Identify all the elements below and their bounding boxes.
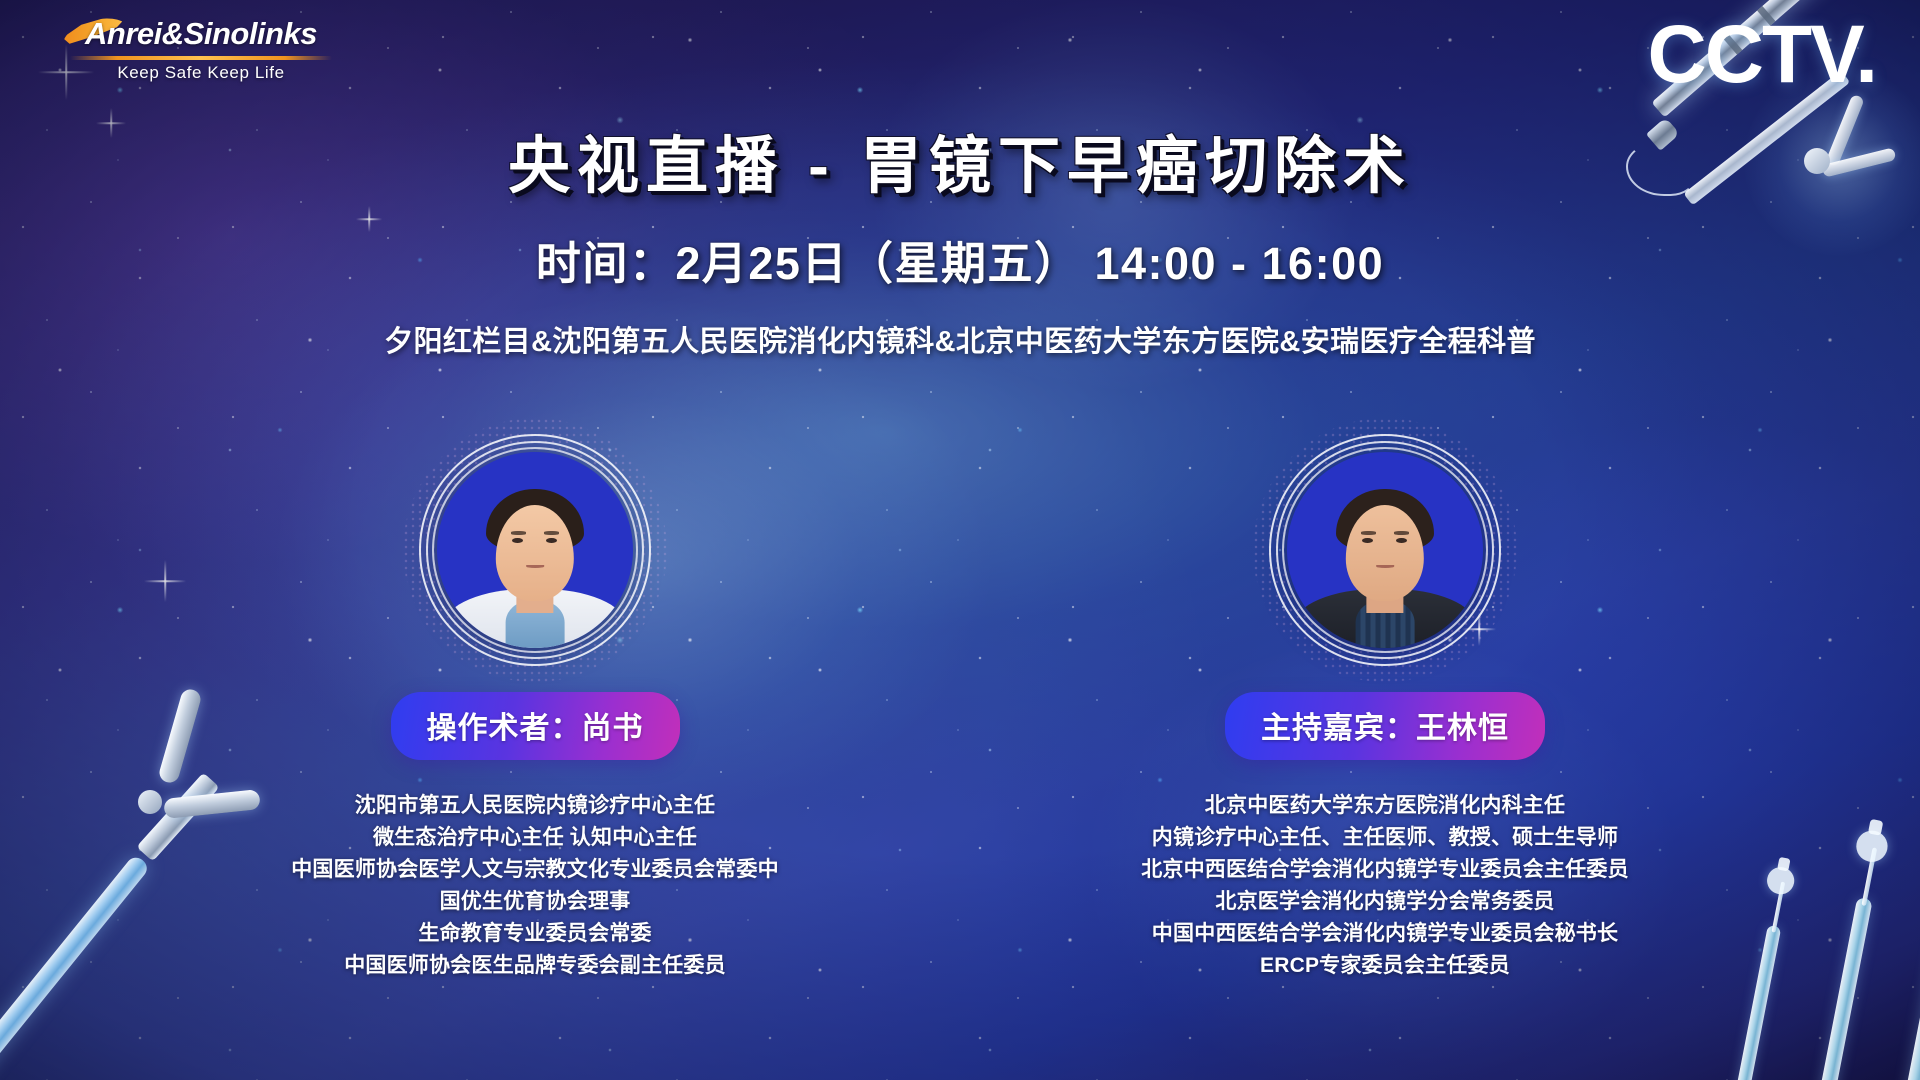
- credentials-list-operator: 沈阳市第五人民医院内镜诊疗中心主任 微生态治疗中心主任 认知中心主任 中国医师协…: [275, 790, 795, 981]
- speaker-card-host: 主持嘉宾：王林恒 北京中医药大学东方医院消化内科主任 内镜诊疗中心主任、主任医师…: [1125, 452, 1645, 981]
- list-item: 北京中医药大学东方医院消化内科主任: [1125, 790, 1645, 822]
- list-item: 沈阳市第五人民医院内镜诊疗中心主任: [275, 790, 795, 822]
- list-item: 中国医师协会医生品牌专委会副主任委员: [275, 950, 795, 982]
- avatar-ring-border: [419, 434, 651, 666]
- brand-divider: [70, 56, 332, 60]
- list-item: ERCP专家委员会主任委员: [1125, 950, 1645, 982]
- list-item: 内镜诊疗中心主任、主任医师、教授、硕士生导师: [1125, 822, 1645, 854]
- avatar-ring-border: [1269, 434, 1501, 666]
- event-time: 时间：2月25日（星期五） 14:00 - 16:00: [0, 227, 1920, 292]
- brand-tagline: Keep Safe Keep Life: [66, 63, 336, 83]
- event-organizers: 夕阳红栏目&沈阳第五人民医院消化内镜科&北京中医药大学东方医院&安瑞医疗全程科普: [0, 318, 1920, 360]
- speaker-card-operator: 操作术者：尚书 沈阳市第五人民医院内镜诊疗中心主任 微生态治疗中心主任 认知中心…: [275, 452, 795, 981]
- avatar-wrap: [1287, 452, 1483, 648]
- brand-logo: Anrei&Sinolinks Keep Safe Keep Life: [66, 18, 336, 83]
- brand-wordmark-text: Anrei&Sinolinks: [66, 18, 336, 51]
- list-item: 北京中西医结合学会消化内镜学专业委员会主任委员: [1125, 854, 1645, 886]
- brand-name: Anrei&Sinolinks: [85, 16, 317, 51]
- page-title: 央视直播 - 胃镜下早癌切除术: [0, 132, 1920, 201]
- list-item: 中国中西医结合学会消化内镜学专业委员会秘书长: [1125, 918, 1645, 950]
- list-item: 微生态治疗中心主任 认知中心主任: [275, 822, 795, 854]
- speakers-section: 操作术者：尚书 沈阳市第五人民医院内镜诊疗中心主任 微生态治疗中心主任 认知中心…: [0, 452, 1920, 981]
- status-badge: 主持嘉宾：王林恒: [1225, 692, 1545, 760]
- list-item: 中国医师协会医学人文与宗教文化专业委员会常委中: [275, 854, 795, 886]
- avatar-wrap: [437, 452, 633, 648]
- list-item: 生命教育专业委员会常委: [275, 918, 795, 950]
- cctv-logo: CCTV.: [1648, 14, 1876, 96]
- headline-block: 央视直播 - 胃镜下早癌切除术 时间：2月25日（星期五） 14:00 - 16…: [0, 132, 1920, 360]
- status-badge: 操作术者：尚书: [391, 692, 680, 760]
- credentials-list-host: 北京中医药大学东方医院消化内科主任 内镜诊疗中心主任、主任医师、教授、硕士生导师…: [1125, 790, 1645, 981]
- live-broadcast-poster: Anrei&Sinolinks Keep Safe Keep Life CCTV…: [0, 0, 1920, 1080]
- list-item: 国优生优育协会理事: [275, 886, 795, 918]
- list-item: 北京医学会消化内镜学分会常务委员: [1125, 886, 1645, 918]
